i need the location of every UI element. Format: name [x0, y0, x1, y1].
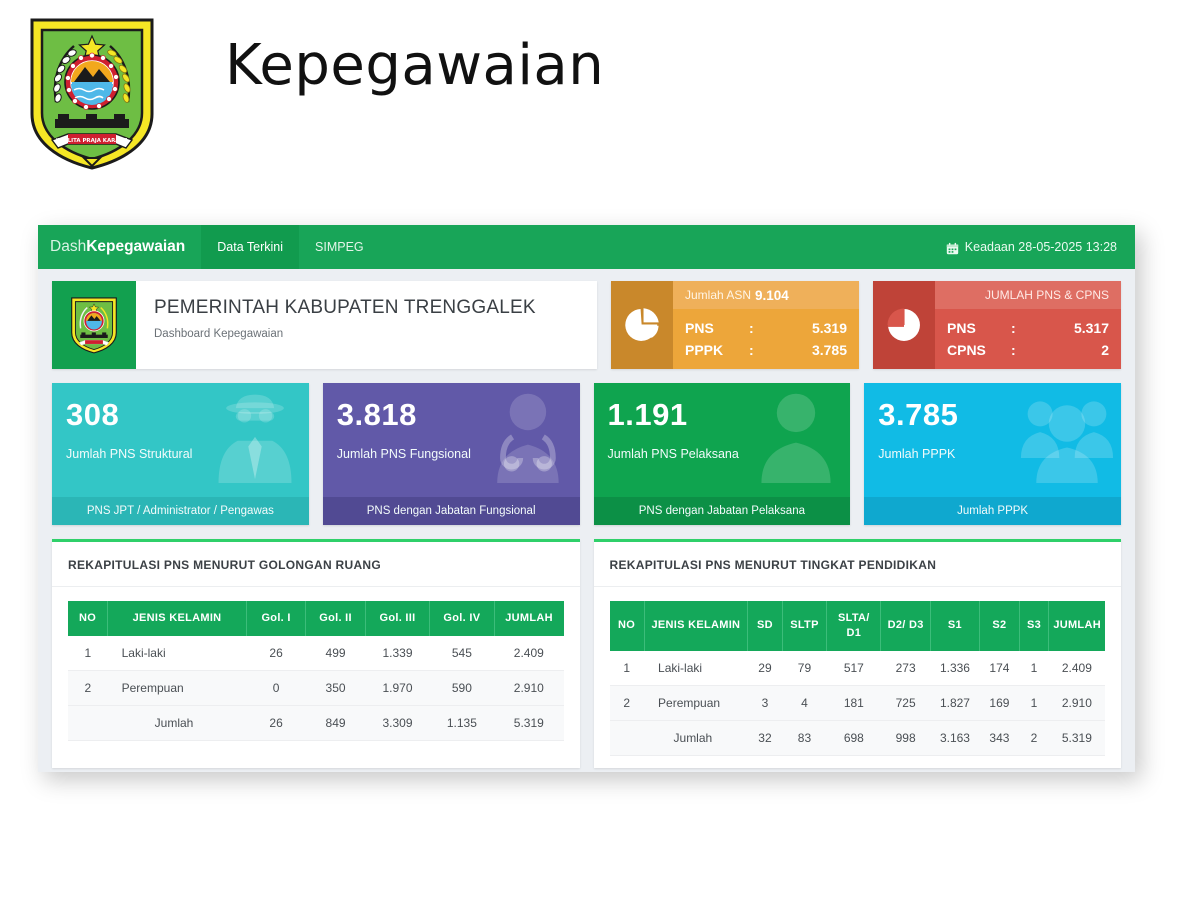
- organization-subtitle: Dashboard Kepegawaian: [154, 328, 536, 340]
- asn-row-pns-key: PNS: [685, 318, 749, 340]
- cpns-row-sep: :: [1011, 340, 1039, 362]
- th-sd: SD: [748, 601, 783, 651]
- stat-card-pns-pelaksana[interactable]: 1.191 Jumlah PNS Pelaksana PNS dengan Ja…: [594, 383, 851, 525]
- th-jenis-kelamin: JENIS KELAMIN: [644, 601, 748, 651]
- asn-summary-body: Jumlah ASN 9.104 PNS : 5.319 PPPK : 3.78…: [673, 281, 859, 369]
- th-gol-3: Gol. III: [365, 601, 429, 636]
- government-crest-icon: [52, 281, 136, 369]
- cell-gol-3: 3.309: [365, 705, 429, 740]
- asn-row-pns: PNS : 5.319: [685, 318, 847, 340]
- asn-row-pppk-sep: :: [749, 340, 777, 362]
- organization-title: PEMERINTAH KABUPATEN TRENGGALEK: [154, 297, 536, 319]
- nav-item-simpeg[interactable]: SIMPEG: [299, 225, 380, 269]
- cell-jumlah: 5.319: [1049, 720, 1105, 755]
- asn-total-label: Jumlah ASN: [685, 288, 751, 302]
- th-d2-d3: D2/ D3: [881, 601, 930, 651]
- cell-slta-d1: 517: [827, 651, 881, 686]
- asn-total-header: Jumlah ASN 9.104: [673, 281, 859, 309]
- cpns-row: CPNS : 2: [947, 340, 1109, 362]
- table-golongan: NO JENIS KELAMIN Gol. I Gol. II Gol. III…: [68, 601, 564, 741]
- pie-chart-icon: [873, 281, 935, 369]
- pie-chart-icon: [611, 281, 673, 369]
- th-no: NO: [610, 601, 645, 651]
- cell-s2: 343: [980, 720, 1020, 755]
- asn-rows: PNS : 5.319 PPPK : 3.785: [673, 309, 859, 369]
- stat-cards-row: 308 Jumlah PNS Struktural PNS JPT /: [52, 383, 1121, 525]
- th-gol-2: Gol. II: [306, 601, 365, 636]
- cell-slta-d1: 698: [827, 720, 881, 755]
- nav-item-data-terkini[interactable]: Data Terkini: [201, 225, 299, 269]
- th-jumlah: JUMLAH: [1049, 601, 1105, 651]
- cell-slta-d1: 181: [827, 685, 881, 720]
- th-gol-4: Gol. IV: [430, 601, 494, 636]
- pns-cpns-body: JUMLAH PNS & CPNS PNS : 5.317 CPNS : 2: [935, 281, 1121, 369]
- panel-rekap-pendidikan-table-wrap: NO JENIS KELAMIN SD SLTP SLTA/ D1 D2/ D3…: [594, 587, 1122, 756]
- th-s3: S3: [1019, 601, 1049, 651]
- cell-jenis-kelamin: Perempuan: [108, 670, 247, 705]
- cell-jumlah: 2.409: [1049, 651, 1105, 686]
- asn-summary-panel: Jumlah ASN 9.104 PNS : 5.319 PPPK : 3.78…: [611, 281, 859, 369]
- cell-gol-4: 545: [430, 636, 494, 671]
- group-people-icon: [1019, 387, 1115, 497]
- table-total-row: Jumlah 32 83 698 998 3.163 343 2 5.319: [610, 720, 1106, 755]
- table-pendidikan-body: 1 Laki-laki 29 79 517 273 1.336 174 1 2.…: [610, 651, 1106, 756]
- brand-suffix: Kepegawaian: [86, 238, 185, 256]
- cell-gol-4: 590: [430, 670, 494, 705]
- cell-total-label: Jumlah: [644, 720, 748, 755]
- stat-card-pns-struktural-footer: PNS JPT / Administrator / Pengawas: [52, 497, 309, 525]
- pns-row-sep: :: [1011, 318, 1039, 340]
- brand-prefix: Dash: [50, 238, 86, 256]
- cell-s2: 169: [980, 685, 1020, 720]
- kabupaten-trenggalek-crest-icon: JWALITA PRAJA KARANA: [22, 14, 162, 172]
- cell-jenis-kelamin: Laki-laki: [108, 636, 247, 671]
- cell-d2-d3: 998: [881, 720, 930, 755]
- pns-row: PNS : 5.317: [947, 318, 1109, 340]
- asn-row-pppk: PPPK : 3.785: [685, 340, 847, 362]
- navbar: DashKepegawaian Data Terkini SIMPEG: [38, 225, 1135, 269]
- stat-card-pppk[interactable]: 3.785 Jumlah PPPK Jumlah PPPK: [864, 383, 1121, 525]
- pns-cpns-summary-panel: JUMLAH PNS & CPNS PNS : 5.317 CPNS : 2: [873, 281, 1121, 369]
- cell-d2-d3: 725: [881, 685, 930, 720]
- single-person-icon: [748, 387, 844, 497]
- brand-logo[interactable]: DashKepegawaian: [38, 225, 201, 269]
- asn-row-pns-value: 5.319: [777, 318, 847, 340]
- stat-card-pns-fungsional-footer: PNS dengan Jabatan Fungsional: [323, 497, 580, 525]
- cell-gol-3: 1.339: [365, 636, 429, 671]
- cell-gol-2: 350: [306, 670, 365, 705]
- dashboard-screenshot: DashKepegawaian Data Terkini SIMPEG: [38, 225, 1135, 772]
- table-row: 2 Perempuan 3 4 181 725 1.827 169 1 2.91…: [610, 685, 1106, 720]
- cell-s1: 1.336: [930, 651, 979, 686]
- stat-card-pns-pelaksana-footer: PNS dengan Jabatan Pelaksana: [594, 497, 851, 525]
- cell-jumlah: 2.409: [494, 636, 563, 671]
- table-pendidikan: NO JENIS KELAMIN SD SLTP SLTA/ D1 D2/ D3…: [610, 601, 1106, 756]
- cell-gol-3: 1.970: [365, 670, 429, 705]
- th-jumlah: JUMLAH: [494, 601, 563, 636]
- cell-no: 1: [68, 636, 108, 671]
- detective-icon: [207, 387, 303, 497]
- cell-sltp: 4: [782, 685, 826, 720]
- cpns-row-key: CPNS: [947, 340, 1011, 362]
- th-gol-1: Gol. I: [246, 601, 305, 636]
- th-sltp: SLTP: [782, 601, 826, 651]
- panel-rekap-pendidikan-title: REKAPITULASI PNS MENURUT TINGKAT PENDIDI…: [594, 542, 1122, 587]
- th-jenis-kelamin: JENIS KELAMIN: [108, 601, 247, 636]
- cell-no: [610, 720, 645, 755]
- stethoscope-doctor-icon: [478, 387, 574, 497]
- nav-item-simpeg-label: SIMPEG: [315, 240, 364, 254]
- cell-s1: 1.827: [930, 685, 979, 720]
- stat-card-pppk-footer: Jumlah PPPK: [864, 497, 1121, 525]
- asn-row-pppk-value: 3.785: [777, 340, 847, 362]
- cell-s1: 3.163: [930, 720, 979, 755]
- cell-jumlah: 2.910: [1049, 685, 1105, 720]
- cell-gol-2: 849: [306, 705, 365, 740]
- cell-sd: 32: [748, 720, 783, 755]
- organization-panel: PEMERINTAH KABUPATEN TRENGGALEK Dashboar…: [52, 281, 597, 369]
- pns-cpns-header: JUMLAH PNS & CPNS: [935, 281, 1121, 309]
- table-row: 1 Laki-laki 29 79 517 273 1.336 174 1 2.…: [610, 651, 1106, 686]
- cell-jumlah: 5.319: [494, 705, 563, 740]
- cell-d2-d3: 273: [881, 651, 930, 686]
- status-datetime: Keadaan 28-05-2025 13:28: [946, 225, 1135, 269]
- nav-item-data-terkini-label: Data Terkini: [217, 240, 283, 254]
- th-s2: S2: [980, 601, 1020, 651]
- cell-jumlah: 2.910: [494, 670, 563, 705]
- asn-row-pppk-key: PPPK: [685, 340, 749, 362]
- pns-cpns-rows: PNS : 5.317 CPNS : 2: [935, 309, 1121, 369]
- table-golongan-head: NO JENIS KELAMIN Gol. I Gol. II Gol. III…: [68, 601, 564, 636]
- asn-row-pns-sep: :: [749, 318, 777, 340]
- cpns-row-value: 2: [1039, 340, 1109, 362]
- cell-sltp: 79: [782, 651, 826, 686]
- calendar-icon: [946, 242, 959, 255]
- panel-rekap-golongan: REKAPITULASI PNS MENURUT GOLONGAN RUANG …: [52, 539, 580, 768]
- stat-card-pppk-main: 3.785 Jumlah PPPK: [864, 383, 1121, 497]
- cell-s3: 1: [1019, 651, 1049, 686]
- th-s1: S1: [930, 601, 979, 651]
- panel-rekap-golongan-table-wrap: NO JENIS KELAMIN Gol. I Gol. II Gol. III…: [52, 587, 580, 741]
- cell-s2: 174: [980, 651, 1020, 686]
- table-golongan-header-row: NO JENIS KELAMIN Gol. I Gol. II Gol. III…: [68, 601, 564, 636]
- table-row: 1 Laki-laki 26 499 1.339 545 2.409: [68, 636, 564, 671]
- pns-row-key: PNS: [947, 318, 1011, 340]
- cell-jenis-kelamin: Perempuan: [644, 685, 748, 720]
- cell-no: 2: [610, 685, 645, 720]
- dashboard-body: PEMERINTAH KABUPATEN TRENGGALEK Dashboar…: [38, 269, 1135, 768]
- cell-gol-1: 26: [246, 705, 305, 740]
- slide-header: JWALITA PRAJA KARANA Kepegawaian: [0, 0, 1200, 200]
- svg-text:JWALITA PRAJA KARANA: JWALITA PRAJA KARANA: [55, 138, 129, 144]
- stat-card-pns-fungsional[interactable]: 3.818 Jumlah PNS Fungsional PNS den: [323, 383, 580, 525]
- asn-total-value: 9.104: [755, 288, 789, 303]
- cell-total-label: Jumlah: [108, 705, 247, 740]
- th-slta-d1: SLTA/ D1: [827, 601, 881, 651]
- stat-card-pns-fungsional-main: 3.818 Jumlah PNS Fungsional: [323, 383, 580, 497]
- table-row: 2 Perempuan 0 350 1.970 590 2.910: [68, 670, 564, 705]
- pns-row-value: 5.317: [1039, 318, 1109, 340]
- summary-row: PEMERINTAH KABUPATEN TRENGGALEK Dashboar…: [52, 281, 1121, 369]
- cell-gol-2: 499: [306, 636, 365, 671]
- organization-text: PEMERINTAH KABUPATEN TRENGGALEK Dashboar…: [136, 281, 536, 369]
- pns-cpns-header-label: JUMLAH PNS & CPNS: [985, 288, 1109, 302]
- stat-card-pns-struktural-main: 308 Jumlah PNS Struktural: [52, 383, 309, 497]
- cell-no: 1: [610, 651, 645, 686]
- cell-gol-1: 0: [246, 670, 305, 705]
- cell-gol-1: 26: [246, 636, 305, 671]
- table-total-row: Jumlah 26 849 3.309 1.135 5.319: [68, 705, 564, 740]
- table-golongan-body: 1 Laki-laki 26 499 1.339 545 2.409 2 Per…: [68, 636, 564, 741]
- th-no: NO: [68, 601, 108, 636]
- cell-jenis-kelamin: Laki-laki: [644, 651, 748, 686]
- page-title: Kepegawaian: [225, 35, 604, 97]
- cell-s3: 2: [1019, 720, 1049, 755]
- cell-no: [68, 705, 108, 740]
- panel-rekap-golongan-title: REKAPITULASI PNS MENURUT GOLONGAN RUANG: [52, 542, 580, 587]
- cell-gol-4: 1.135: [430, 705, 494, 740]
- cell-sd: 3: [748, 685, 783, 720]
- cell-sltp: 83: [782, 720, 826, 755]
- cell-s3: 1: [1019, 685, 1049, 720]
- tables-row: REKAPITULASI PNS MENURUT GOLONGAN RUANG …: [52, 539, 1121, 768]
- cell-no: 2: [68, 670, 108, 705]
- status-datetime-label: Keadaan 28-05-2025 13:28: [965, 240, 1117, 254]
- stat-card-pns-pelaksana-main: 1.191 Jumlah PNS Pelaksana: [594, 383, 851, 497]
- panel-rekap-pendidikan: REKAPITULASI PNS MENURUT TINGKAT PENDIDI…: [594, 539, 1122, 768]
- stat-card-pns-struktural[interactable]: 308 Jumlah PNS Struktural PNS JPT /: [52, 383, 309, 525]
- table-pendidikan-head: NO JENIS KELAMIN SD SLTP SLTA/ D1 D2/ D3…: [610, 601, 1106, 651]
- table-pendidikan-header-row: NO JENIS KELAMIN SD SLTP SLTA/ D1 D2/ D3…: [610, 601, 1106, 651]
- cell-sd: 29: [748, 651, 783, 686]
